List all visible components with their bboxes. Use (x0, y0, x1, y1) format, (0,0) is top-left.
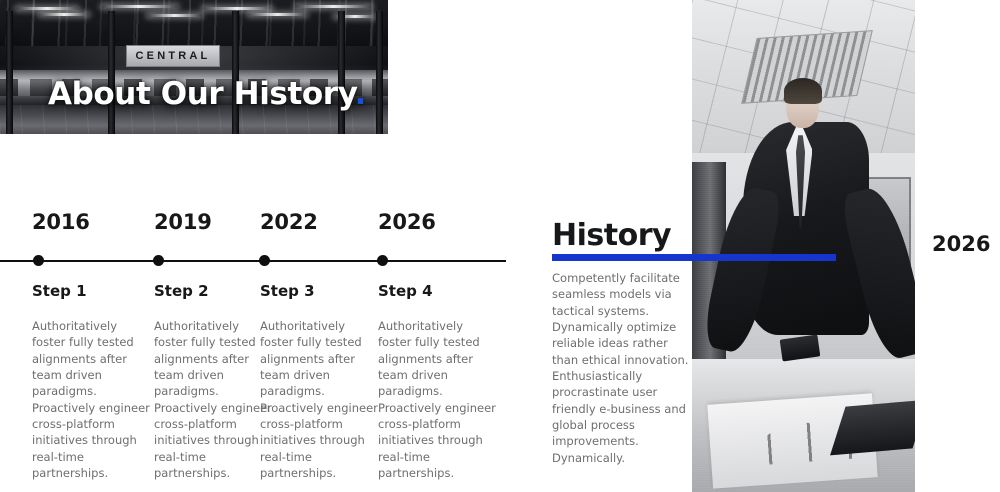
timeline-step-4: Step 4 Authoritatively foster fully test… (378, 282, 496, 481)
timeline-year-2019: 2019 (154, 210, 212, 234)
timeline-year-2026: 2026 (378, 210, 436, 234)
ceiling-lights-decor (0, 0, 388, 51)
step-4-body: Authoritatively foster fully tested alig… (378, 318, 496, 481)
timeline-step-3: Step 3 Authoritatively foster fully test… (260, 282, 378, 481)
page-title-text: About Our History (48, 76, 355, 112)
step-1-title: Step 1 (32, 282, 150, 300)
timeline-dot-1[interactable] (33, 255, 44, 266)
timeline-year-2016: 2016 (32, 210, 90, 234)
step-3-body: Authoritatively foster fully tested alig… (260, 318, 378, 481)
businessman-photo (692, 0, 915, 492)
hero-banner: CENTRAL About Our History. (0, 0, 388, 134)
step-2-title: Step 2 (154, 282, 272, 300)
timeline-step-1: Step 1 Authoritatively foster fully test… (32, 282, 150, 481)
step-2-body: Authoritatively foster fully tested alig… (154, 318, 272, 481)
timeline-dot-3[interactable] (259, 255, 270, 266)
step-1-body: Authoritatively foster fully tested alig… (32, 318, 150, 481)
timeline: 2016 2019 2022 2026 (0, 210, 520, 280)
timeline-step-2: Step 2 Authoritatively foster fully test… (154, 282, 272, 481)
step-3-title: Step 3 (260, 282, 378, 300)
station-sign: CENTRAL (126, 45, 220, 67)
timeline-year-2022: 2022 (260, 210, 318, 234)
page-title: About Our History. (48, 76, 366, 112)
history-body-text: Competently facilitate seamless models v… (552, 270, 692, 466)
timeline-dot-2[interactable] (153, 255, 164, 266)
businessman-hair (784, 78, 822, 104)
page-title-accent-dot: . (355, 76, 366, 112)
history-heading: History (552, 218, 671, 253)
step-4-title: Step 4 (378, 282, 496, 300)
timeline-axis-line (0, 260, 506, 262)
timeline-dot-4[interactable] (377, 255, 388, 266)
history-accent-rule (552, 254, 836, 261)
history-year-label: 2026 (932, 232, 990, 256)
